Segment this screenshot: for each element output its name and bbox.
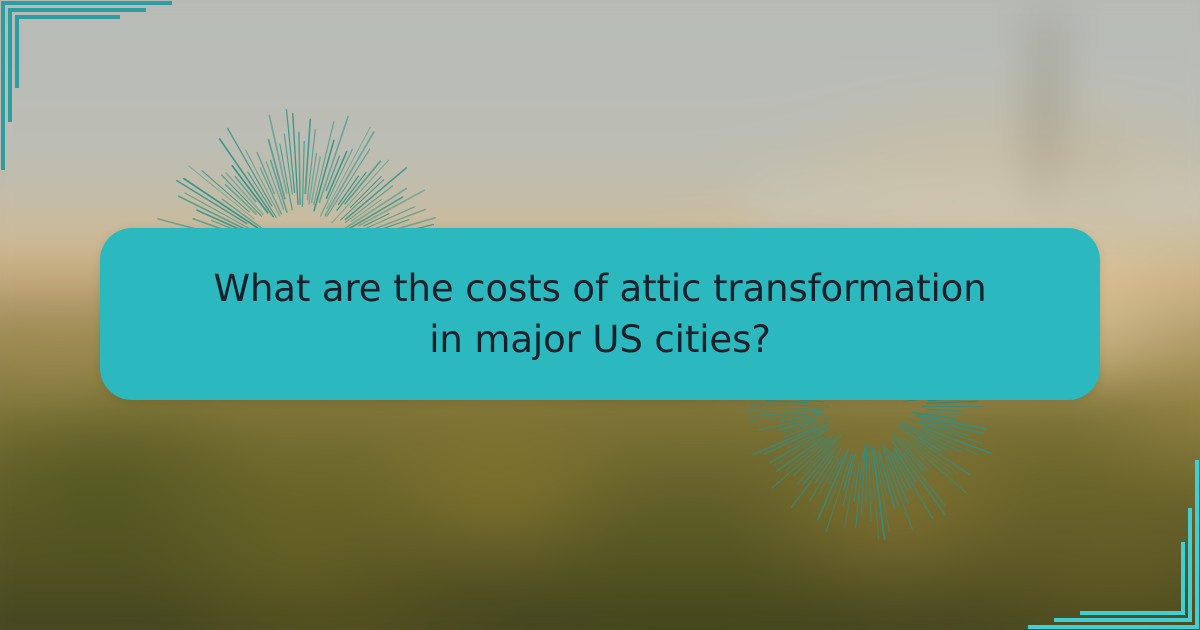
share-card-canvas: What are the costs of attic transformati… — [0, 0, 1200, 630]
question-banner: What are the costs of attic transformati… — [100, 228, 1100, 400]
banner-title: What are the costs of attic transformati… — [200, 263, 1000, 365]
corner-ornament-top-left — [0, 0, 180, 180]
sunburst-ornament-bottom — [866, 405, 868, 407]
corner-ornament-bottom-right — [1020, 450, 1200, 630]
